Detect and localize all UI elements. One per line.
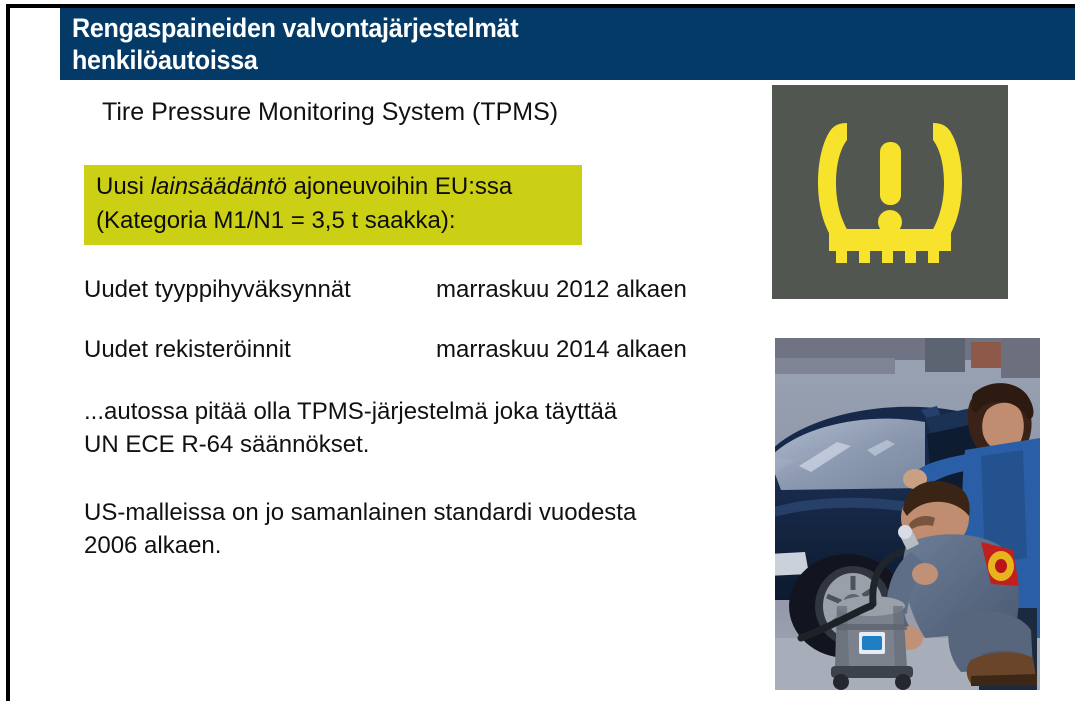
legislation-prefix: Uusi [96,173,151,200]
slide-header-bar: Rengaspaineiden valvontajärjestelmät hen… [60,8,1075,80]
body-paragraph-1: ...autossa pitää olla TPMS-järjestelmä j… [84,395,756,461]
legislation-highlight-box: Uusi lainsäädäntö ajoneuvoihin EU:ssa (K… [84,165,582,245]
legislation-highlight-line-1: Uusi lainsäädäntö ajoneuvoihin EU:ssa [96,170,568,204]
tire-inflation-photo-illustration [775,338,1040,690]
slide-canvas: Rengaspaineiden valvontajärjestelmät hen… [0,0,1075,701]
legislation-italic-term: lainsäädäntö [151,173,287,200]
slide-subtitle: Tire Pressure Monitoring System (TPMS) [102,96,764,128]
deadline-value: marraskuu 2014 alkaen [436,335,687,365]
deadline-row: Uudet rekisteröinnit marraskuu 2014 alka… [84,335,764,365]
legislation-highlight-line-2: (Kategoria M1/N1 = 3,5 t saakka): [96,204,568,238]
deadline-label: Uudet tyyppihyväksynnät [84,275,436,305]
slide-body: Tire Pressure Monitoring System (TPMS) U… [84,96,764,562]
deadline-rows: Uudet tyyppihyväksynnät marraskuu 2012 a… [84,275,764,365]
tpms-warning-lamp-image [772,85,1008,299]
deadline-label: Uudet rekisteröinnit [84,335,436,365]
tire-inflation-photo [775,338,1040,690]
slide-title: Rengaspaineiden valvontajärjestelmät hen… [72,12,965,76]
slide-border-left [6,4,10,701]
body-paragraph-2: US-malleissa on jo samanlainen standardi… [84,496,756,562]
legislation-suffix: ajoneuvoihin EU:ssa [287,173,512,200]
deadline-row: Uudet tyyppihyväksynnät marraskuu 2012 a… [84,275,764,305]
tpms-warning-lamp-icon [772,85,1008,299]
deadline-value: marraskuu 2012 alkaen [436,275,687,305]
